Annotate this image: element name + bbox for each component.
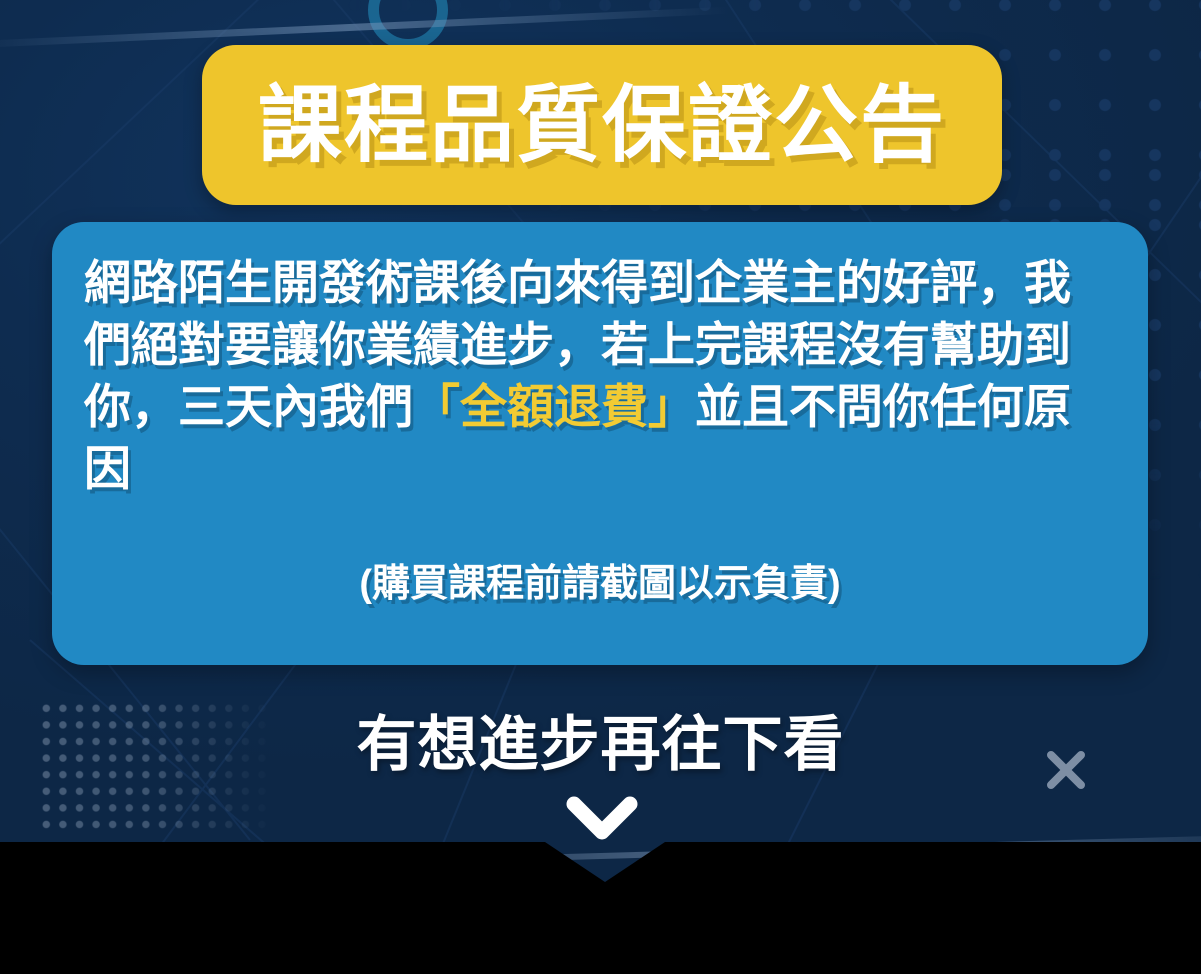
promo-banner-stage: 課程品質保證公告 網路陌生開發術課後向來得到企業主的好評，我們絕對要讓你業績進步… <box>0 0 1201 974</box>
cta-scroll-down-text: 有想進步再往下看 <box>0 696 1201 783</box>
full-refund-highlight: 「全額退費」 <box>413 380 695 433</box>
guarantee-card: 網路陌生開發術課後向來得到企業主的好評，我們絕對要讓你業績進步，若上完課程沒有幫… <box>52 222 1148 665</box>
screenshot-note: (購買課程前請截圖以示負責) <box>84 552 1116 607</box>
page-title: 課程品質保證公告 <box>258 83 946 167</box>
guarantee-paragraph: 網路陌生開發術課後向來得到企業主的好評，我們絕對要讓你業績進步，若上完課程沒有幫… <box>84 252 1116 500</box>
title-badge: 課程品質保證公告 <box>202 45 1002 205</box>
chevron-down-icon[interactable] <box>566 796 638 842</box>
teal-ring-decoration <box>368 0 448 50</box>
light-streak-top <box>0 7 730 48</box>
close-icon[interactable] <box>1042 746 1090 794</box>
light-streak-bottom <box>330 835 1201 866</box>
